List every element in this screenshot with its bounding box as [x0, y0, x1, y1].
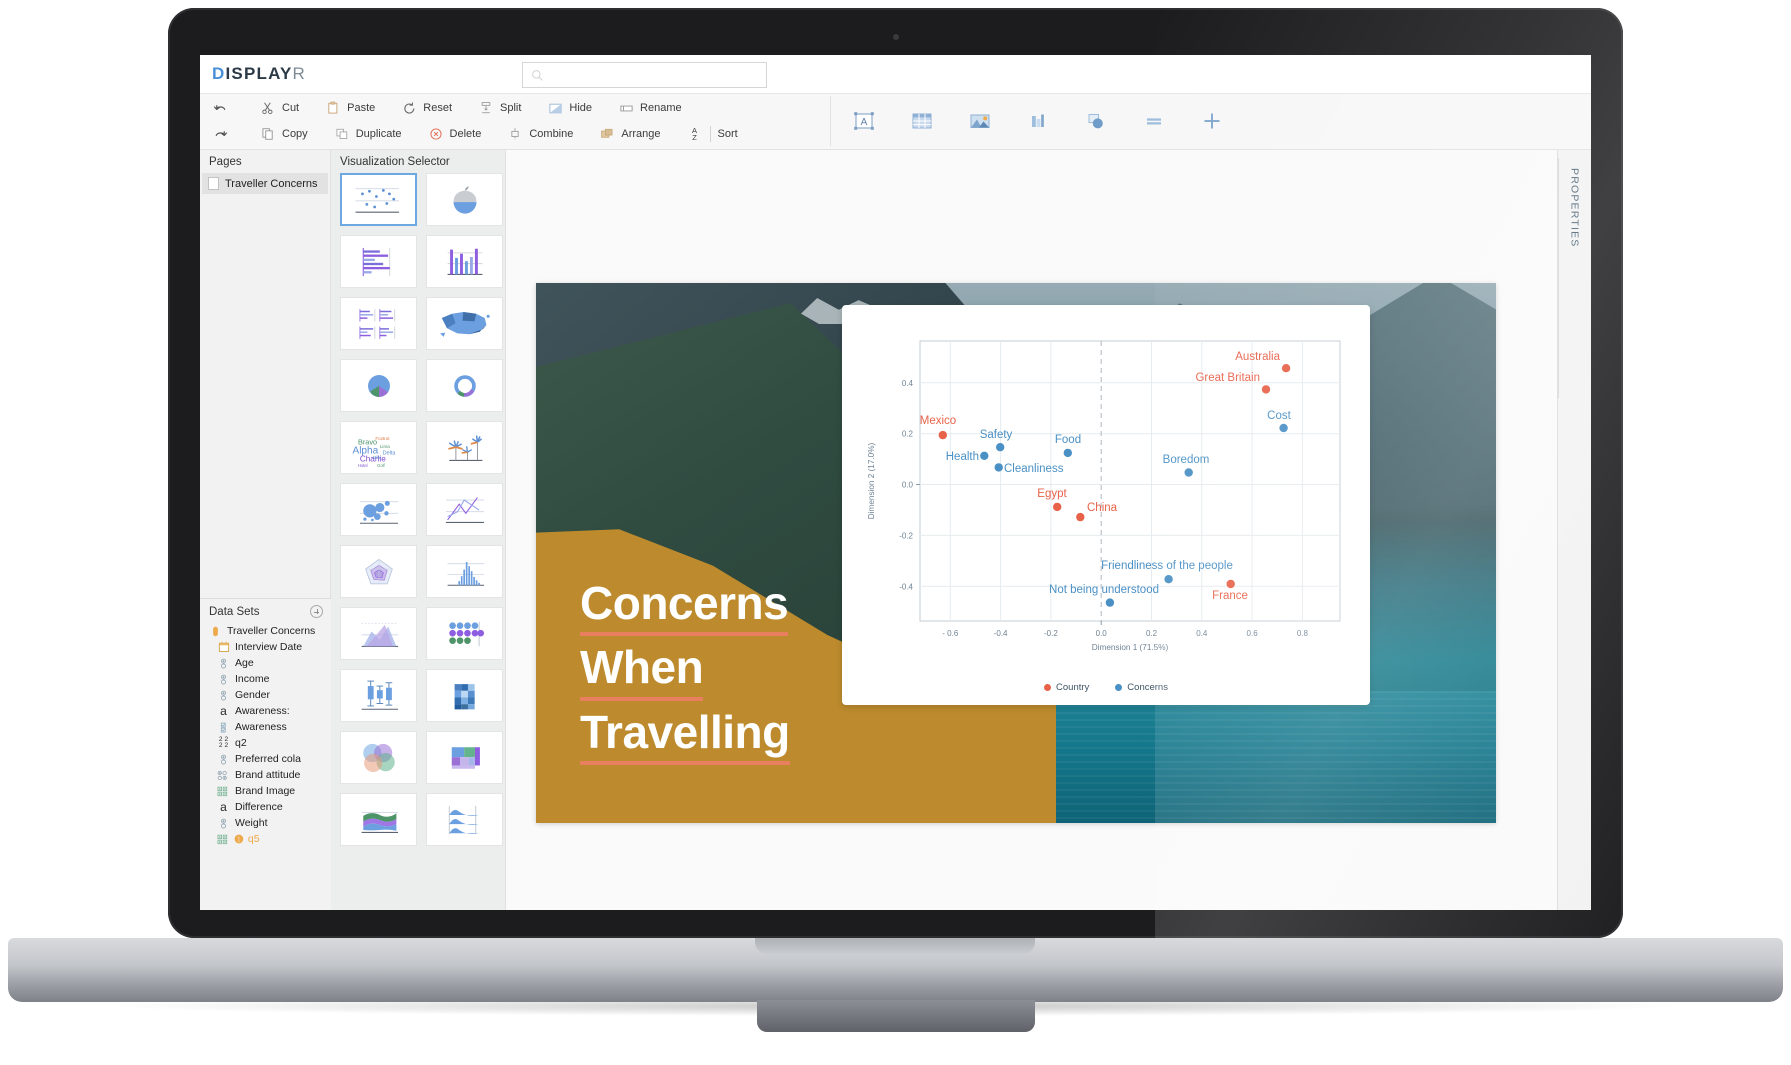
laptop-front-foot [757, 1000, 1035, 1032]
search-input[interactable] [544, 68, 766, 82]
insert-tool-group: A [830, 96, 1225, 146]
svg-text:0.0: 0.0 [1096, 629, 1108, 638]
pages-title: Pages [200, 150, 330, 173]
viz-thumb-column-chart[interactable] [426, 235, 503, 288]
variable-q5[interactable]: ❶ q5 [200, 831, 331, 847]
variable-preferred-cola[interactable]: Preferred cola [200, 751, 331, 767]
arrange-icon [599, 126, 615, 142]
point-label-boredom: Boredom [1163, 454, 1210, 466]
variable-label: Difference [235, 801, 283, 813]
point-great-britain[interactable] [1262, 385, 1270, 393]
app-header: DISPLAYR [200, 55, 1591, 94]
variable-brand-attitude[interactable]: Brand attitude [200, 767, 331, 783]
viz-thumb-treemap[interactable] [426, 731, 503, 784]
radio-icon [217, 657, 230, 670]
slide[interactable]: Concerns When Travelling [536, 283, 1496, 823]
point-label-mexico: Mexico [920, 415, 956, 427]
variable-label: Brand attitude [235, 769, 300, 781]
treemap-icon [436, 738, 494, 778]
viz-thumb-word-cloud[interactable]: Alpha Bravo Charlie Delta Lima Foxtrot H… [340, 421, 417, 474]
point-france[interactable] [1227, 580, 1235, 588]
variable-label: Interview Date [235, 641, 302, 653]
point-china[interactable] [1076, 513, 1084, 521]
palm-trees-chart-icon [436, 428, 494, 468]
point-safety[interactable] [996, 443, 1004, 451]
viz-thumb-venn-diagram[interactable] [340, 731, 417, 784]
delete-label: Delete [450, 128, 482, 140]
visualization-grid: Alpha Bravo Charlie Delta Lima Foxtrot H… [331, 173, 505, 846]
viz-thumb-histogram[interactable] [426, 545, 503, 598]
point-label-egypt: Egypt [1037, 488, 1067, 500]
combine-button[interactable]: Combine [507, 126, 573, 142]
point-label-safety: Safety [980, 429, 1013, 441]
viz-thumb-bubble-chart[interactable] [340, 483, 417, 536]
sort-divider [710, 126, 711, 142]
stream-graph-icon [350, 800, 408, 840]
data-sets-header: Data Sets [200, 599, 331, 623]
svg-text:0.2: 0.2 [902, 430, 914, 439]
variable-awareness-text[interactable]: a Awareness: [200, 703, 331, 719]
svg-text:Delta: Delta [382, 450, 396, 456]
x-axis-tick-labels: - 0.6 -0.4 -0.2 0.0 0.2 0.4 0.6 0.8 [942, 629, 1308, 638]
variable-income[interactable]: Income [200, 671, 331, 687]
copy-button[interactable]: Copy [260, 126, 308, 142]
combine-label: Combine [529, 128, 573, 140]
hide-icon [547, 100, 563, 116]
box-plot-icon [350, 676, 408, 716]
page-icon [208, 177, 219, 190]
x-axis-title: Dimension 1 (71.5%) [1092, 643, 1169, 652]
clipboard-icon [325, 100, 341, 116]
svg-text:A: A [861, 117, 868, 128]
heatmap-icon [439, 676, 491, 716]
point-australia[interactable] [1282, 364, 1290, 372]
split-button[interactable]: Split [478, 100, 521, 116]
scissors-icon [260, 100, 276, 116]
point-cleanliness[interactable] [995, 463, 1003, 471]
workspace: Pages Traveller Concerns Data Sets Trav [200, 150, 1591, 910]
area-chart-icon [350, 614, 408, 654]
viz-thumb-heatmap[interactable] [426, 669, 503, 722]
pages-panel: Pages Traveller Concerns Data Sets Trav [200, 150, 331, 910]
data-sets-title: Data Sets [209, 606, 260, 618]
svg-text:0.0: 0.0 [902, 481, 914, 490]
legend-swatch-concerns [1115, 684, 1122, 691]
point-label-friendliness: Friendliness of the people [1101, 560, 1233, 572]
svg-text:-0.2: -0.2 [1044, 629, 1058, 638]
variable-label: Age [235, 657, 254, 669]
paste-button[interactable]: Paste [325, 100, 375, 116]
search-box[interactable] [522, 62, 767, 88]
visualization-selector-panel: Visualization Selector [331, 150, 506, 910]
histogram-icon [436, 552, 494, 592]
radio-icon [217, 753, 230, 766]
split-icon [478, 100, 494, 116]
geographic-map-icon [435, 304, 495, 344]
variable-brand-image[interactable]: Brand Image [200, 783, 331, 799]
copy-label: Copy [282, 128, 308, 140]
variable-difference[interactable]: a Difference [200, 799, 331, 815]
radio-icon [217, 817, 230, 830]
bubble-matrix-icon [436, 614, 494, 654]
viz-thumb-palm-trees-chart[interactable] [426, 421, 503, 474]
chart-legend: Country Concerns [842, 682, 1370, 693]
line-icon[interactable] [1141, 108, 1167, 134]
rename-icon [618, 100, 634, 116]
point-not-being-understood[interactable] [1106, 598, 1114, 606]
svg-text:0.6: 0.6 [1247, 629, 1259, 638]
document-canvas[interactable]: Concerns When Travelling [506, 150, 1557, 910]
date-icon [217, 641, 230, 654]
point-label-great-britain: Great Britain [1195, 372, 1260, 384]
shape-icon[interactable] [1083, 108, 1109, 134]
svg-text:Golf: Golf [377, 463, 385, 468]
slide-title-line-3: Travelling [580, 706, 1000, 765]
svg-text:Mike: Mike [372, 454, 381, 459]
legend-item-country[interactable]: Country [1044, 682, 1089, 693]
arrange-label: Arrange [621, 128, 660, 140]
svg-text:Lima: Lima [379, 444, 389, 449]
svg-text:0.8: 0.8 [1297, 629, 1309, 638]
pie-chart-icon [355, 366, 403, 406]
undo-icon [212, 100, 228, 116]
point-label-health: Health [946, 451, 979, 463]
duplicate-label: Duplicate [356, 128, 402, 140]
viz-thumb-stream-graph[interactable] [340, 793, 417, 846]
variable-label: Brand Image [235, 785, 295, 797]
add-data-set-icon[interactable] [310, 605, 323, 618]
svg-text:Foxtrot: Foxtrot [375, 435, 390, 440]
point-label-australia: Australia [1235, 351, 1280, 363]
variable-label: Gender [235, 689, 270, 701]
legend-label-country: Country [1056, 682, 1089, 693]
data-set-root-label: Traveller Concerns [227, 625, 315, 637]
webcam-icon [893, 34, 899, 40]
sort-az-icon: AZ [687, 126, 703, 142]
legend-swatch-country [1044, 684, 1051, 691]
variable-interview-date[interactable]: Interview Date [200, 639, 331, 655]
viz-thumb-bubble-matrix[interactable] [426, 607, 503, 660]
dataset-icon [209, 625, 222, 638]
rename-label: Rename [640, 102, 682, 114]
checkbox-grid-icon [217, 785, 230, 798]
properties-label: PROPERTIES [1569, 168, 1581, 248]
svg-text:0.4: 0.4 [902, 379, 914, 388]
displayr-logo[interactable]: DISPLAYR [212, 64, 306, 84]
viz-thumb-donut-chart[interactable] [426, 359, 503, 412]
laptop-screen: DISPLAYR [200, 55, 1591, 910]
undo-button[interactable] [212, 100, 234, 116]
table-icon[interactable] [909, 108, 935, 134]
viz-thumb-pictograph-apple[interactable] [426, 173, 503, 226]
hide-label: Hide [569, 102, 592, 114]
small-multiples-bar-icon [350, 304, 408, 344]
duplicate-button[interactable]: Duplicate [334, 126, 402, 142]
laptop-base-notch [755, 938, 1035, 954]
page-item-label: Traveller Concerns [225, 178, 318, 190]
delete-button[interactable]: Delete [428, 126, 482, 142]
logo-middle: ISPLAY [225, 64, 292, 83]
variable-label: Income [235, 673, 269, 685]
delete-icon [428, 126, 444, 142]
svg-text:0.2: 0.2 [1146, 629, 1158, 638]
bubble-chart-icon [350, 490, 408, 530]
donut-chart-icon [441, 366, 489, 406]
pictograph-apple-icon [440, 181, 490, 219]
svg-text:Bravo: Bravo [358, 437, 377, 446]
reset-label: Reset [423, 102, 452, 114]
point-label-china: China [1087, 502, 1118, 514]
checkbox-icon [217, 721, 230, 734]
y-axis-title: Dimension 2 (17.0%) [867, 443, 876, 520]
paste-label: Paste [347, 102, 375, 114]
text-box-icon[interactable]: A [851, 108, 877, 134]
bar-chart-horizontal-icon [350, 242, 408, 282]
properties-panel[interactable]: PROPERTIES [1557, 150, 1591, 910]
svg-text:- 0.6: - 0.6 [942, 629, 959, 638]
radio-icon [217, 673, 230, 686]
y-axis-tick-labels: 0.4 0.2 0.0 -0.2 -0.4 [899, 379, 913, 591]
data-sets-panel: Data Sets Traveller Concerns Interv [200, 598, 331, 910]
viz-thumb-ridgeline-plot[interactable] [426, 793, 503, 846]
viz-thumb-geographic-map[interactable] [426, 297, 503, 350]
point-health[interactable] [980, 452, 988, 460]
scatterplot-icon [348, 180, 410, 220]
sort-button[interactable]: AZ Sort [687, 126, 738, 142]
viz-thumb-box-plot[interactable] [340, 669, 417, 722]
variable-gender[interactable]: Gender [200, 687, 331, 703]
point-food[interactable] [1064, 449, 1072, 457]
arrange-button[interactable]: Arrange [599, 126, 660, 142]
venn-diagram-icon [350, 738, 408, 778]
viz-thumb-small-multiples-bar[interactable] [340, 297, 417, 350]
point-label-food: Food [1055, 434, 1081, 446]
word-cloud-icon: Alpha Bravo Charlie Delta Lima Foxtrot H… [347, 427, 411, 469]
viz-thumb-line-chart[interactable] [426, 483, 503, 536]
line-chart-icon [436, 490, 494, 530]
variable-label: Weight [235, 817, 268, 829]
svg-text:-0.4: -0.4 [994, 629, 1008, 638]
legend-label-concerns: Concerns [1127, 682, 1168, 693]
page-item-traveller-concerns[interactable]: Traveller Concerns [202, 173, 328, 194]
variable-label: q5 [248, 833, 260, 845]
point-cost[interactable] [1279, 424, 1287, 432]
logo-letter-r: R [293, 64, 306, 83]
viz-thumb-area-chart[interactable] [340, 607, 417, 660]
viz-thumb-radar-chart[interactable] [340, 545, 417, 598]
plus-icon[interactable] [1199, 108, 1225, 134]
variable-label: q2 [235, 737, 247, 749]
svg-text:-0.4: -0.4 [899, 582, 913, 591]
hide-button[interactable]: Hide [547, 100, 592, 116]
properties-divider [1558, 158, 1559, 398]
radio-icon [217, 689, 230, 702]
svg-text:0.4: 0.4 [1196, 629, 1208, 638]
cut-button[interactable]: Cut [260, 100, 299, 116]
point-boredom[interactable] [1185, 468, 1193, 476]
radar-chart-icon [353, 552, 405, 592]
svg-text:-0.2: -0.2 [899, 531, 913, 540]
text-a-icon: a [217, 801, 230, 814]
reset-icon [401, 100, 417, 116]
point-mexico[interactable] [939, 431, 947, 439]
chart-card[interactable]: 0.4 0.2 0.0 -0.2 -0.4 - 0.6 -0.4 [842, 305, 1370, 705]
viz-thumb-pie-chart[interactable] [340, 359, 417, 412]
variable-q2[interactable]: 2222 q2 [200, 735, 331, 751]
screenshot-root: DISPLAYR [0, 0, 1791, 1065]
ribbon-row-2: Copy Duplicate Delete [200, 120, 738, 148]
legend-item-concerns[interactable]: Concerns [1115, 682, 1168, 693]
correspondence-scatter-chart[interactable]: 0.4 0.2 0.0 -0.2 -0.4 - 0.6 -0.4 [842, 305, 1370, 705]
svg-text:Hotel: Hotel [358, 463, 368, 468]
chart-icon[interactable] [1025, 108, 1051, 134]
reset-button[interactable]: Reset [401, 100, 452, 116]
redo-icon [212, 126, 228, 142]
q5-marker-icon: ❶ [234, 833, 244, 846]
viz-thumb-scatterplot[interactable] [340, 173, 417, 226]
data-set-root[interactable]: Traveller Concerns [200, 623, 331, 639]
grid-number-icon: 2222 [217, 737, 230, 750]
rename-button[interactable]: Rename [618, 100, 682, 116]
variable-weight[interactable]: Weight [200, 815, 331, 831]
ridgeline-plot-icon [436, 800, 494, 840]
ribbon-row-1: Cut Paste Reset [200, 94, 682, 122]
variable-label: Preferred cola [235, 753, 301, 765]
image-icon[interactable] [967, 108, 993, 134]
point-label-not-being-understood: Not being understood [1049, 584, 1159, 596]
point-friendliness[interactable] [1164, 575, 1172, 583]
split-label: Split [500, 102, 521, 114]
variable-label: Awareness: [235, 705, 290, 717]
point-egypt[interactable] [1053, 503, 1061, 511]
visualization-selector-title: Visualization Selector [331, 150, 505, 173]
cut-label: Cut [282, 102, 299, 114]
ribbon-toolbar: Cut Paste Reset [200, 94, 1591, 150]
point-label-france: France [1212, 590, 1248, 602]
combine-icon [507, 126, 523, 142]
radio-grid-icon [217, 769, 230, 782]
search-icon [531, 69, 544, 82]
logo-letter-d: D [212, 64, 225, 83]
sort-label: Sort [718, 128, 738, 140]
text-a-icon: a [217, 705, 230, 718]
column-chart-icon [436, 242, 494, 282]
point-label-cleanliness: Cleanliness [1004, 463, 1064, 475]
point-label-cost: Cost [1267, 410, 1291, 422]
variable-awareness[interactable]: Awareness [200, 719, 331, 735]
variable-age[interactable]: Age [200, 655, 331, 671]
variable-label: Awareness [235, 721, 287, 733]
redo-button[interactable] [212, 126, 234, 142]
copy-icon [260, 126, 276, 142]
viz-thumb-bar-chart-horizontal[interactable] [340, 235, 417, 288]
duplicate-icon [334, 126, 350, 142]
checkbox-grid-icon [217, 833, 230, 846]
